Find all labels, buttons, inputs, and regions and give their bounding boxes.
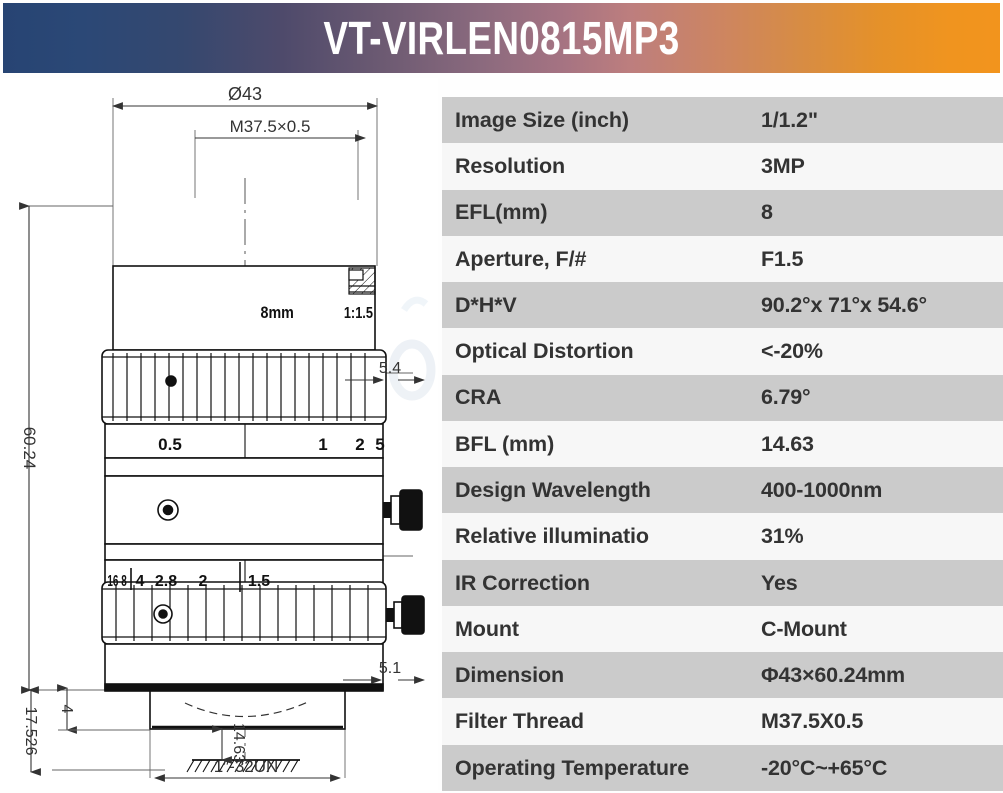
dim-filter-thread: M37.5×0.5 (195, 117, 365, 138)
dim-mount-thread-label: 1″-32UN (214, 757, 279, 776)
dim-mount-step-label: 4 (58, 705, 75, 714)
focus-lock-screw (386, 596, 424, 634)
page-title: VT-VIRLEN0815MP3 (323, 11, 679, 65)
focus-scale-1: 1 (318, 435, 327, 454)
spec-value: Φ43×60.24mm (755, 652, 1003, 698)
product-spec-page: VT-VIRLEN0815MP3 (0, 0, 1003, 793)
spec-value: <-20% (755, 328, 1003, 374)
spec-value: 31% (755, 513, 1003, 559)
dim-focus-ring-offset-label: 5.1 (379, 660, 401, 677)
spec-value: 90.2°x 71°x 54.6° (755, 282, 1003, 328)
spec-label: Aperture, F/# (442, 236, 755, 282)
spec-label: Image Size (inch) (442, 97, 755, 143)
aperture-scale-0: 16 (107, 572, 118, 590)
spec-label: D*H*V (442, 282, 755, 328)
dim-total-length-label: 60.24 (20, 427, 39, 470)
flange-face (105, 684, 383, 691)
aperture-scale-4: 2 (199, 573, 208, 590)
table-row: Design Wavelength 400-1000nm (442, 467, 1003, 513)
spec-label: Optical Distortion (442, 328, 755, 374)
table-row: Resolution 3MP (442, 143, 1003, 189)
aperture-scale-5: 1.5 (248, 573, 270, 590)
mid-ring-top (105, 458, 383, 476)
mid-ring-bottom (105, 544, 383, 560)
spec-value: 400-1000nm (755, 467, 1003, 513)
table-row: Relative illuminatio 31% (442, 513, 1003, 559)
lens-technical-drawing: Ø43 M37.5×0.5 60.24 (0, 78, 438, 790)
table-row: Optical Distortion <-20% (442, 328, 1003, 374)
iris-lock-screw (383, 490, 422, 530)
lens-body (102, 266, 424, 729)
spec-value: Yes (755, 560, 1003, 606)
spec-label: CRA (442, 375, 755, 421)
table-row: Operating Temperature -20°C~+65°C (442, 745, 1003, 791)
spec-label: Mount (442, 606, 755, 652)
spec-label: Resolution (442, 143, 755, 189)
spec-value: 6.79° (755, 375, 1003, 421)
specification-table-body: Image Size (inch) 1/1.2" Resolution 3MP … (442, 97, 1003, 791)
table-row: IR Correction Yes (442, 560, 1003, 606)
table-row: Filter Thread M37.5X0.5 (442, 698, 1003, 744)
spec-value: 1/1.2" (755, 97, 1003, 143)
front-thread-detail (349, 268, 375, 294)
spec-label: Operating Temperature (442, 745, 755, 791)
front-barrel (113, 266, 375, 350)
dim-flange-block-label: 17.526 (22, 707, 39, 756)
iris-ring-knurl (102, 582, 386, 644)
table-row: Mount C-Mount (442, 606, 1003, 652)
spec-value: M37.5X0.5 (755, 698, 1003, 744)
focus-scale-band (105, 424, 383, 458)
specification-table: Image Size (inch) 1/1.2" Resolution 3MP … (442, 97, 1003, 791)
aperture-scale-1: 8 (121, 572, 127, 590)
spec-label: Dimension (442, 652, 755, 698)
spec-value: C-Mount (755, 606, 1003, 652)
lens-outline-svg: Ø43 M37.5×0.5 60.24 (0, 78, 438, 790)
dim-filter-thread-label: M37.5×0.5 (230, 117, 311, 136)
spec-value: F1.5 (755, 236, 1003, 282)
dim-total-length: 60.24 (20, 206, 39, 690)
watermark (393, 300, 431, 396)
focus-scale-0: 0.5 (158, 435, 182, 454)
dim-outer-diameter: Ø43 (113, 84, 377, 106)
table-row: BFL (mm) 14.63 (442, 421, 1003, 467)
aperture-scale-2: 4 (136, 573, 145, 590)
dim-mount-step: 4 (58, 688, 150, 730)
spec-value: -20°C~+65°C (755, 745, 1003, 791)
rear-barrel (105, 644, 383, 690)
table-row: Dimension Φ43×60.24mm (442, 652, 1003, 698)
table-row: Aperture, F/# F1.5 (442, 236, 1003, 282)
spec-value: 3MP (755, 143, 1003, 189)
focus-ring-knurl (102, 350, 386, 424)
aperture-scale-3: 2.8 (155, 573, 177, 590)
spec-label: IR Correction (442, 560, 755, 606)
spec-label: BFL (mm) (442, 421, 755, 467)
iris-barrel (105, 476, 383, 544)
table-row: CRA 6.79° (442, 375, 1003, 421)
table-row: Image Size (inch) 1/1.2" (442, 97, 1003, 143)
dim-iris-ring-offset-label: 5.4 (379, 360, 401, 377)
table-row: D*H*V 90.2°x 71°x 54.6° (442, 282, 1003, 328)
spec-label: Relative illuminatio (442, 513, 755, 559)
table-row: EFL(mm) 8 (442, 190, 1003, 236)
aperture-ratio-label: 1:1.5 (344, 305, 373, 323)
spec-label: Filter Thread (442, 698, 755, 744)
spec-label: Design Wavelength (442, 467, 755, 513)
spec-value: 8 (755, 190, 1003, 236)
dim-flange-block: 17.526 (22, 690, 39, 772)
dim-outer-diameter-label: Ø43 (228, 84, 262, 104)
focus-scale-2: 2 (355, 435, 364, 454)
focus-scale-3: 5 (375, 435, 384, 454)
spec-value: 14.63 (755, 421, 1003, 467)
dim-mount-thread: 1″-32UN (155, 757, 340, 778)
spec-label: EFL(mm) (442, 190, 755, 236)
focal-length-label: 8mm (261, 304, 294, 322)
page-header-banner: VT-VIRLEN0815MP3 (3, 3, 1000, 73)
